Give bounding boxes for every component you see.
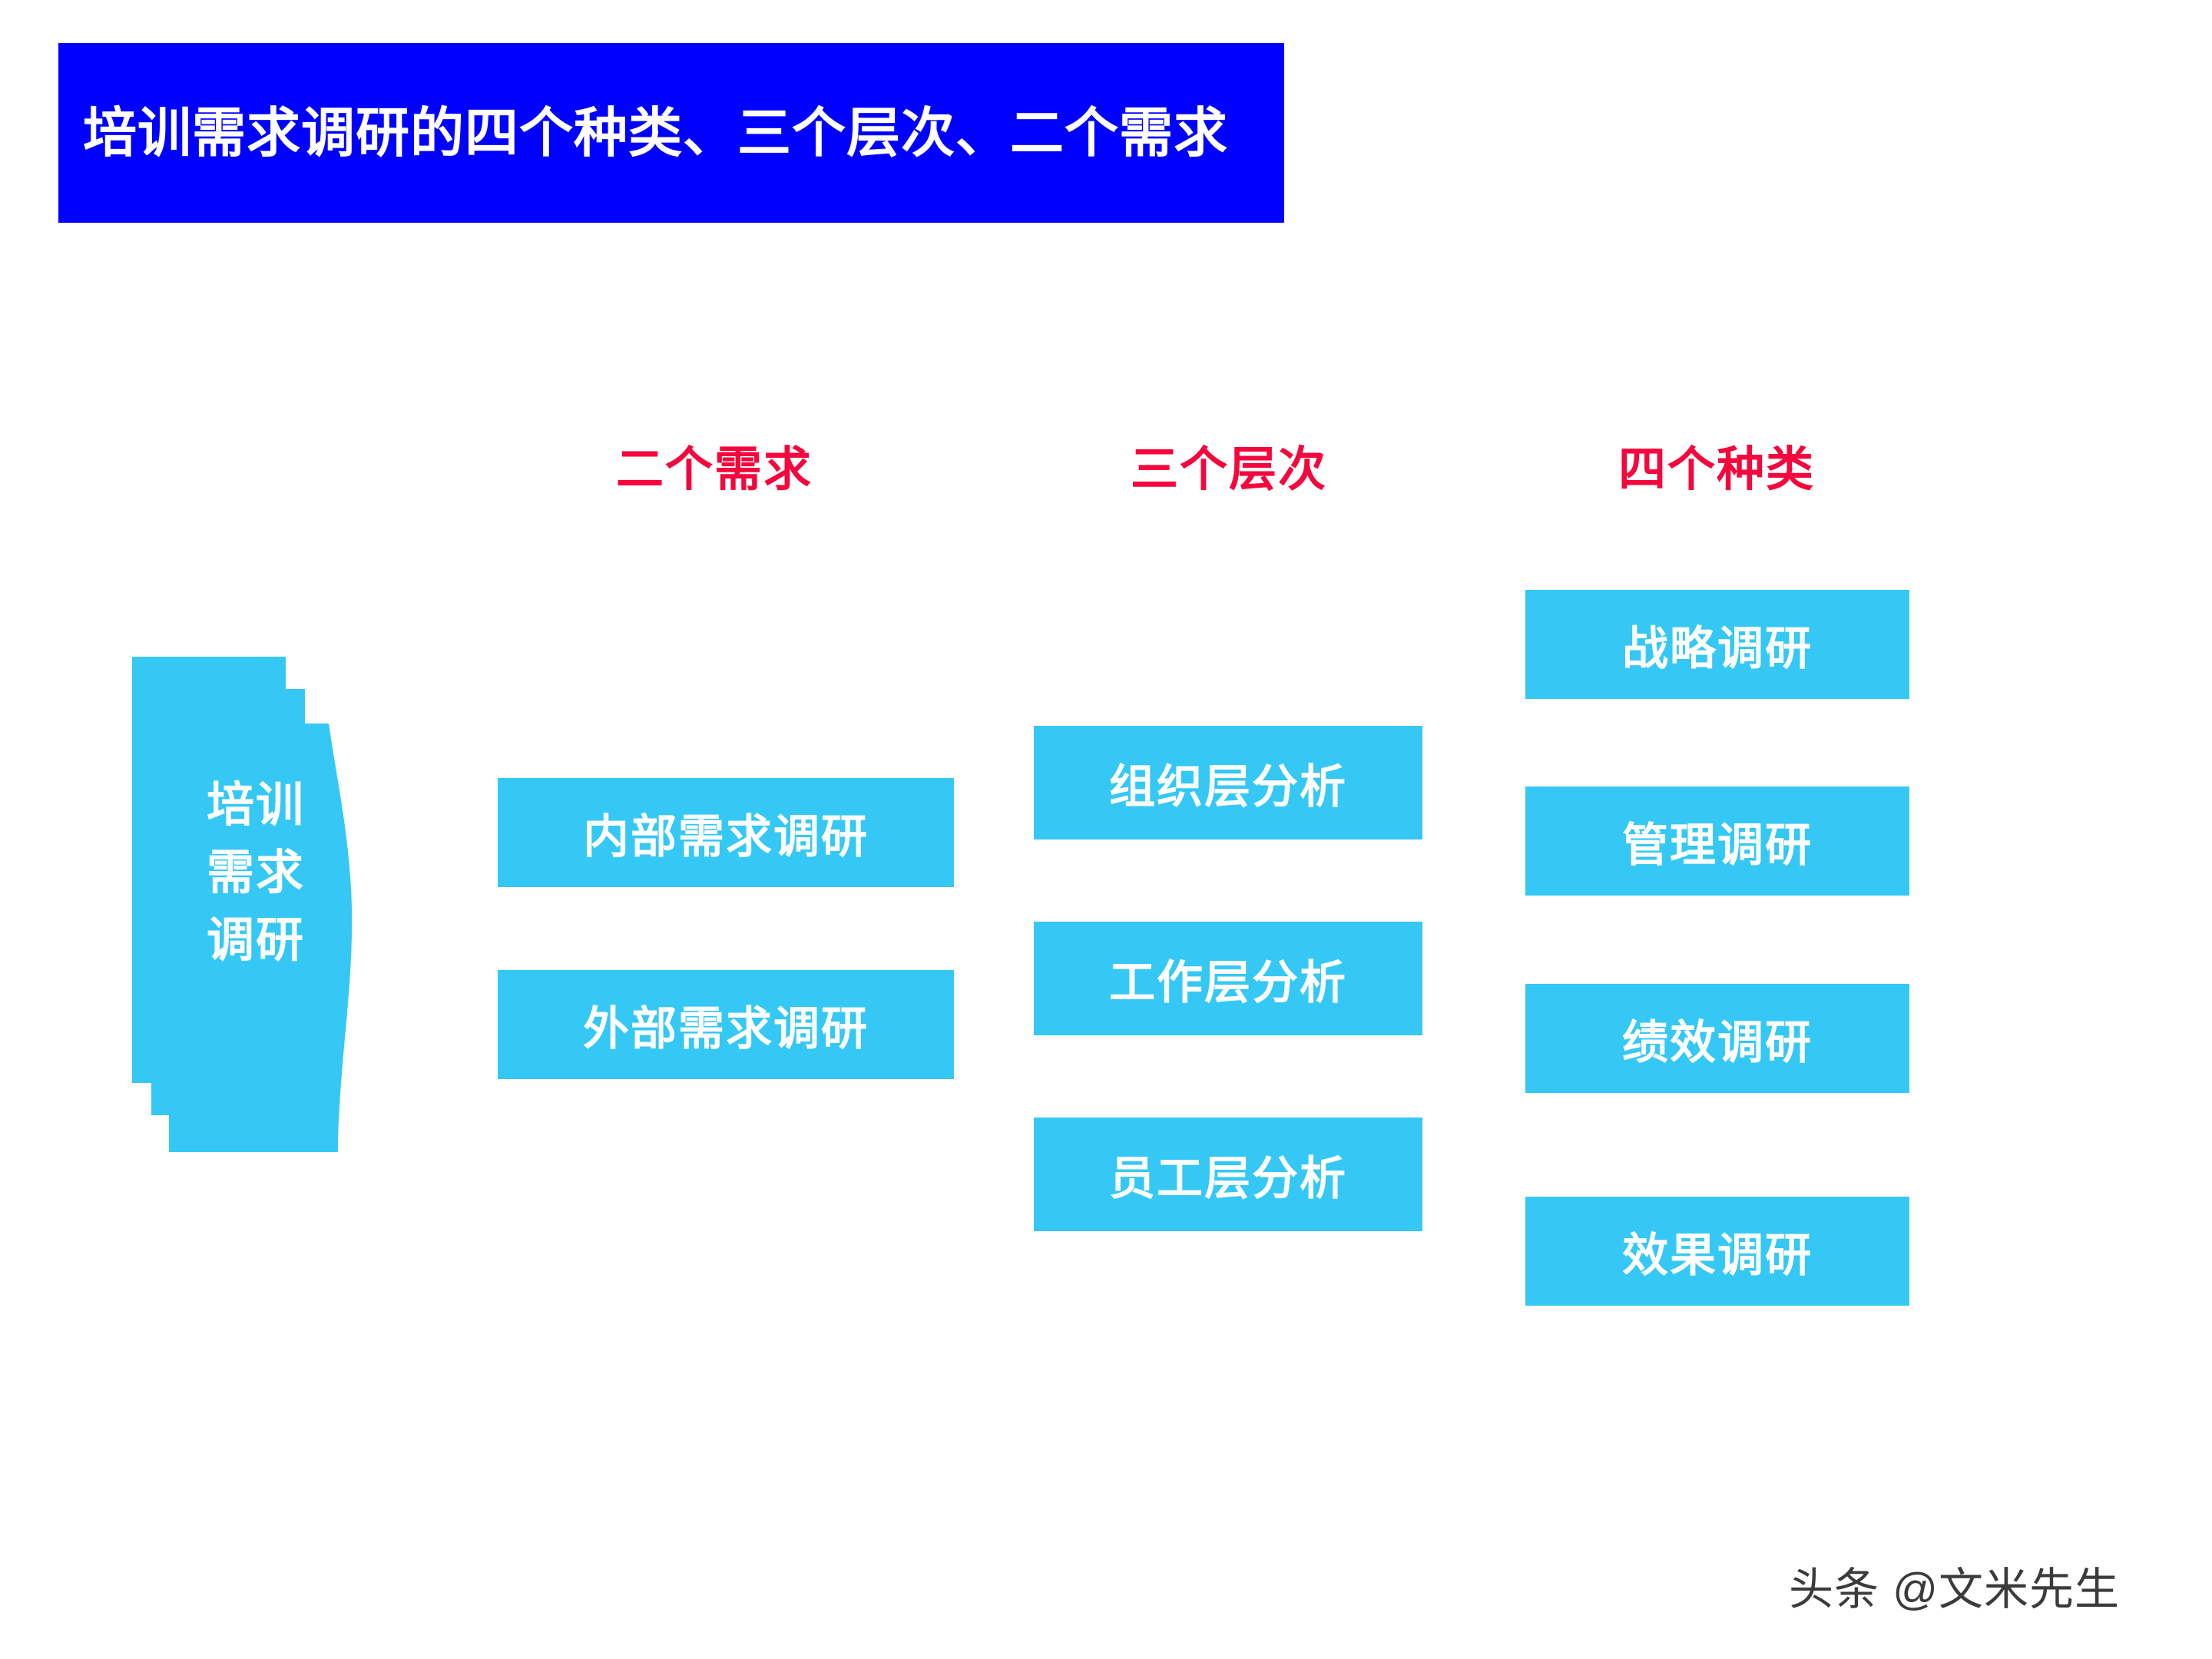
stack-label-line-2: 需求: [183, 839, 329, 907]
watermark-credit: 头条 @文米先生: [1789, 1553, 2120, 1618]
title-banner: 培训需求调研的四个种类、三个层次、二个需求: [58, 43, 1284, 223]
item-box-performance-research[interactable]: 绩效调研: [1525, 984, 1909, 1093]
item-box-external-needs[interactable]: 外部需求调研: [498, 970, 954, 1079]
stack-label-line-3: 调研: [183, 907, 329, 975]
item-box-employee-level[interactable]: 员工层分析: [1034, 1118, 1422, 1231]
stack-label-line-1: 培训: [183, 772, 329, 839]
item-box-organization-level[interactable]: 组织层分析: [1034, 726, 1422, 839]
stacked-cards-group: 培训 需求 调研: [115, 649, 438, 1171]
slide-canvas: 培训需求调研的四个种类、三个层次、二个需求 二个需求 三个层次 四个种类 培训 …: [0, 0, 2212, 1659]
page-title: 培训需求调研的四个种类、三个层次、二个需求: [83, 104, 1228, 163]
column-header-needs: 二个需求: [507, 430, 922, 499]
item-box-strategy-research[interactable]: 战略调研: [1525, 590, 1909, 699]
column-header-levels: 三个层次: [1029, 430, 1429, 499]
stack-card-label: 培训 需求 调研: [183, 772, 329, 975]
item-box-job-level[interactable]: 工作层分析: [1034, 922, 1422, 1035]
item-box-internal-needs[interactable]: 内部需求调研: [498, 778, 954, 887]
column-header-kinds: 四个种类: [1517, 430, 1916, 499]
item-box-management-research[interactable]: 管理调研: [1525, 786, 1909, 896]
item-box-effect-research[interactable]: 效果调研: [1525, 1197, 1909, 1306]
